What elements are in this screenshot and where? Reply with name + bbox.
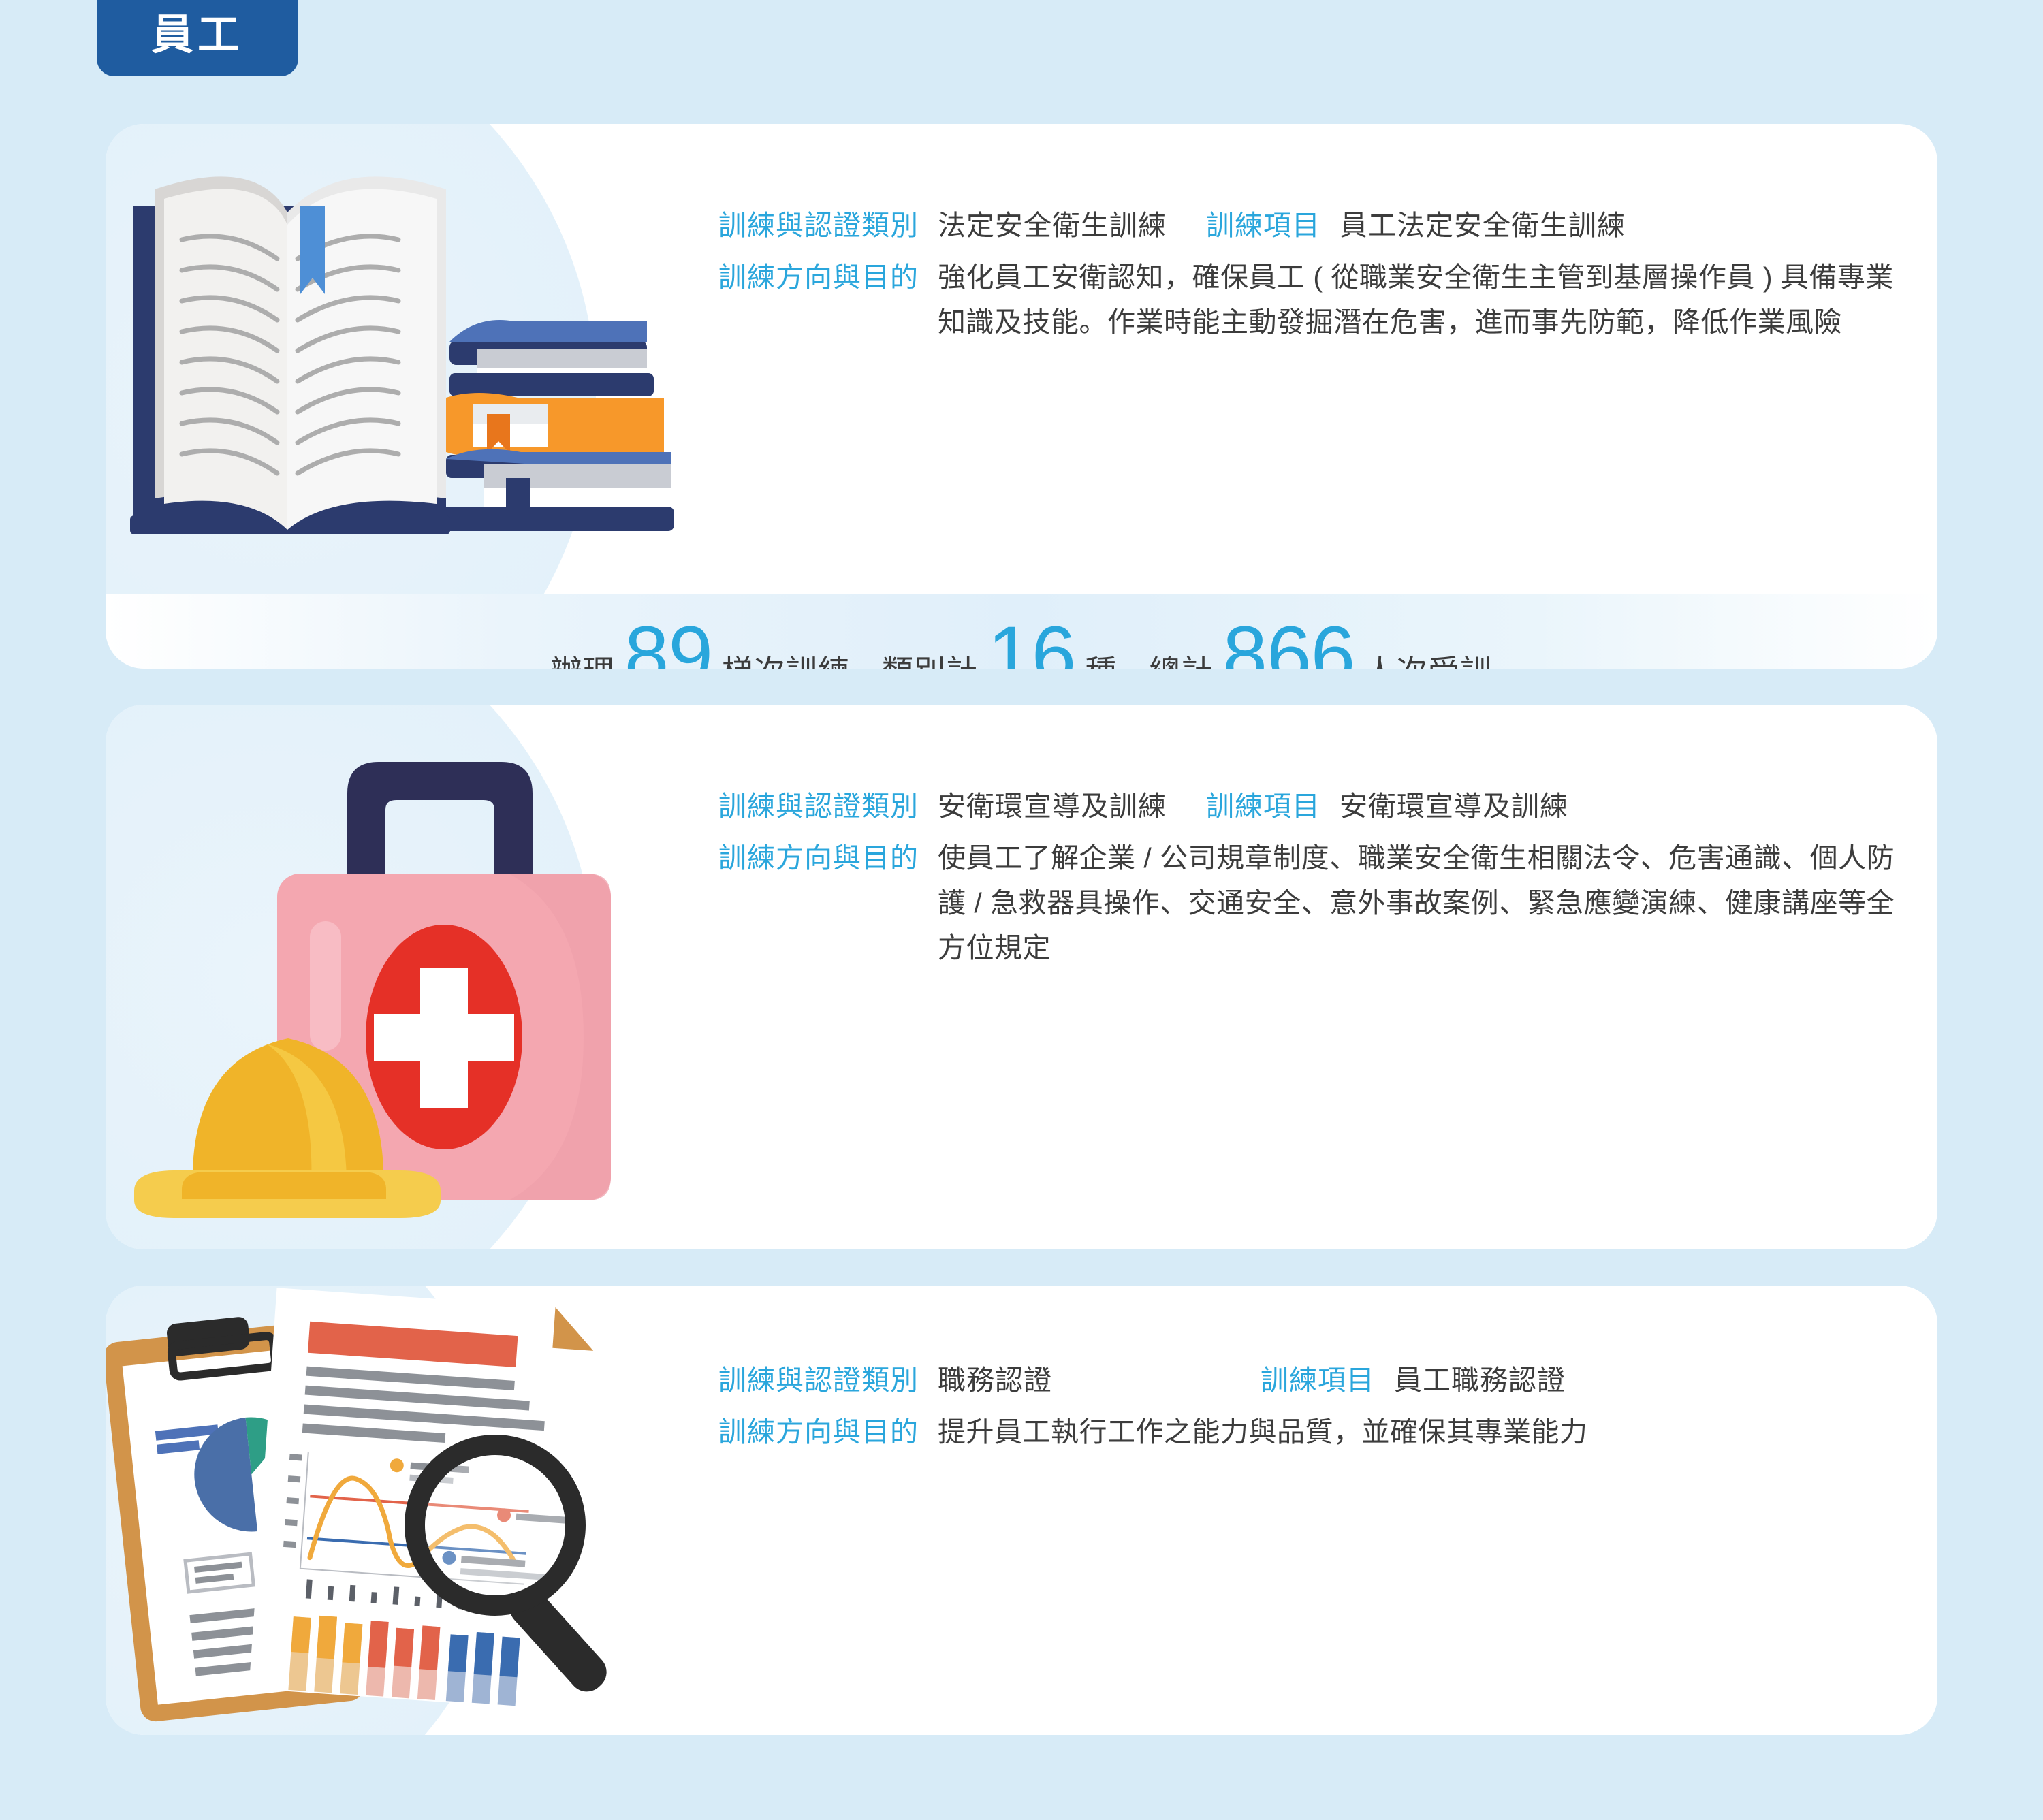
meta-row-category: 訓練與認證類別 職務認證 訓練項目 員工職務認證 [718,1359,1937,1403]
stat-number: 89 [615,619,722,669]
value-training-category: 法定安全衛生訓練 [938,204,1167,248]
training-card: 訓練與認證類別 法定安全衛生訓練 訓練項目 員工法定安全衛生訓練 訓練方向與目的… [106,124,1937,669]
value-training-purpose: 使員工了解企業 / 公司規章制度、職業安全衛生相關法令、危害通識、個人防護 / … [938,835,1905,971]
value-training-item: 員工職務認證 [1394,1359,1566,1403]
value-training-category: 安衛環宣導及訓練 [938,785,1167,829]
training-card: 訓練與認證類別 職務認證 訓練項目 員工職務認證 訓練方向與目的 提升員工執行工… [106,1286,1937,1735]
meta-row-purpose: 訓練方向與目的 強化員工安衛認知，確保員工 ( 從職業安全衛生主管到基層操作員 … [718,255,1937,345]
stat-text: 梯次訓練，類別計 [722,647,978,669]
label-training-purpose: 訓練方向與目的 [718,1409,919,1454]
statistics-line: 辦理 89 梯次訓練，類別計 16 種，總計 866 人次受訓 [551,619,1492,669]
label-training-purpose: 訓練方向與目的 [718,255,919,300]
first-aid-kit-and-hard-hat-illustration [106,705,678,1249]
meta-row-category: 訓練與認證類別 法定安全衛生訓練 訓練項目 員工法定安全衛生訓練 [718,204,1937,248]
section-tab-employee: 員工 [97,0,298,76]
value-training-item: 安衛環宣導及訓練 [1340,785,1568,829]
stat-text: 種，總計 [1085,647,1213,669]
stat-number: 16 [978,619,1085,669]
stat-text: 人次受訓 [1364,647,1492,669]
stat-number: 866 [1213,619,1364,669]
clipboard-report-and-magnifier-illustration [106,1286,678,1735]
section-tab-label: 員工 [151,0,244,57]
meta-row-purpose: 訓練方向與目的 使員工了解企業 / 公司規章制度、職業安全衛生相關法令、危害通識… [718,835,1937,971]
value-training-category: 職務認證 [938,1359,1052,1403]
label-training-category: 訓練與認證類別 [718,204,919,248]
training-card: 訓練與認證類別 安衛環宣導及訓練 訓練項目 安衛環宣導及訓練 訓練方向與目的 使… [106,705,1937,1249]
label-training-item: 訓練項目 [1206,785,1320,829]
label-training-item: 訓練項目 [1261,1359,1375,1403]
label-training-category: 訓練與認證類別 [718,785,919,829]
card-content: 訓練與認證類別 法定安全衛生訓練 訓練項目 員工法定安全衛生訓練 訓練方向與目的… [718,124,1937,669]
card-content: 訓練與認證類別 安衛環宣導及訓練 訓練項目 安衛環宣導及訓練 訓練方向與目的 使… [718,705,1937,1249]
statistics-band: 辦理 89 梯次訓練，類別計 16 種，總計 866 人次受訓 [106,594,1937,669]
card-content: 訓練與認證類別 職務認證 訓練項目 員工職務認證 訓練方向與目的 提升員工執行工… [718,1286,1937,1735]
label-training-purpose: 訓練方向與目的 [718,835,919,880]
meta-row-purpose: 訓練方向與目的 提升員工執行工作之能力與品質，並確保其專業能力 [718,1409,1937,1454]
label-training-item: 訓練項目 [1206,204,1320,248]
value-training-purpose: 強化員工安衛認知，確保員工 ( 從職業安全衛生主管到基層操作員 ) 具備專業知識… [938,255,1905,345]
stat-text: 辦理 [551,647,615,669]
value-training-item: 員工法定安全衛生訓練 [1340,204,1626,248]
label-training-category: 訓練與認證類別 [718,1359,919,1403]
value-training-purpose: 提升員工執行工作之能力與品質，並確保其專業能力 [938,1409,1588,1454]
open-book-and-book-stack-illustration [106,124,678,669]
meta-row-category: 訓練與認證類別 安衛環宣導及訓練 訓練項目 安衛環宣導及訓練 [718,785,1937,829]
